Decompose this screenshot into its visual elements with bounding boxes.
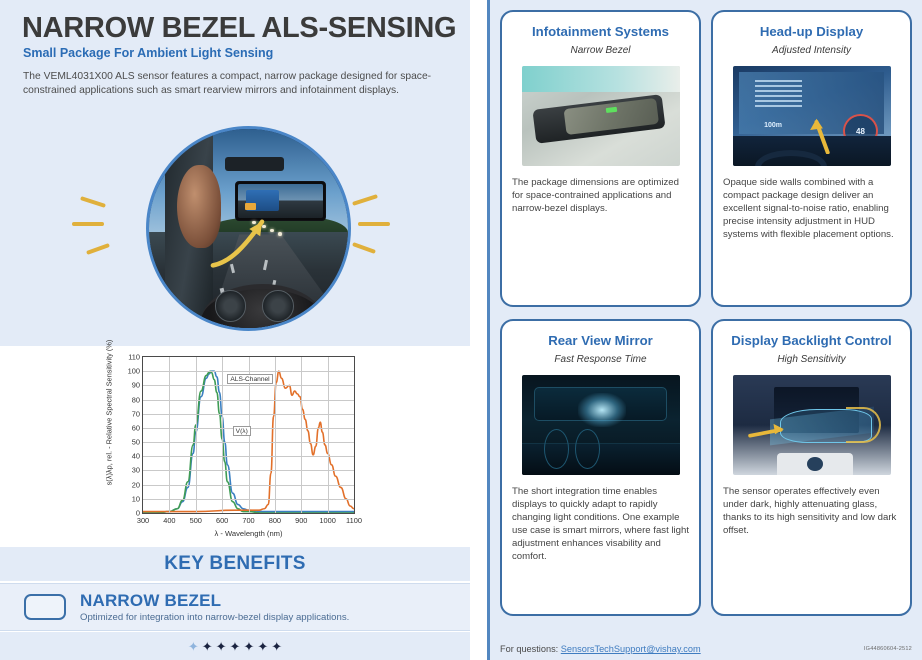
- footer-questions-label: For questions:: [500, 644, 558, 654]
- left-panel: NARROW BEZEL ALS-SENSING Small Package F…: [0, 0, 480, 660]
- chart-y-tick: 80: [132, 395, 140, 404]
- chart-gridline: [143, 456, 354, 457]
- card-title: Display Backlight Control: [723, 333, 900, 349]
- page-title: NARROW BEZEL ALS-SENSING: [22, 12, 456, 45]
- star-icon: ✦: [216, 640, 227, 653]
- chart-gridline: [143, 470, 354, 471]
- card-subtitle: Narrow Bezel: [512, 45, 689, 56]
- card-body-text: The sensor operates effectively even und…: [723, 485, 900, 537]
- star-icon: ✦: [271, 640, 282, 653]
- application-cards-grid: Infotainment Systems Narrow Bezel The pa…: [500, 10, 912, 616]
- hero-image: [146, 126, 351, 331]
- chart-y-tick: 70: [132, 409, 140, 418]
- key-benefit-description: Optimized for integration into narrow-be…: [80, 612, 349, 623]
- footer-questions: For questions: SensorsTechSupport@vishay…: [500, 644, 701, 654]
- yellow-arrow-icon: [209, 209, 301, 273]
- chart-gridline: [143, 485, 354, 486]
- center-console-display-photo: [733, 375, 891, 475]
- footer: For questions: SensorsTechSupport@vishay…: [500, 644, 912, 654]
- card-display-backlight-control[interactable]: Display Backlight Control High Sensitivi…: [711, 319, 912, 616]
- right-panel: Infotainment Systems Narrow Bezel The pa…: [490, 0, 922, 660]
- key-benefit-title: NARROW BEZEL: [80, 592, 349, 610]
- chart-x-axis-label: λ - Wavelength (nm): [142, 529, 355, 538]
- chart-x-tick: 700: [242, 516, 254, 525]
- card-subtitle: Fast Response Time: [512, 354, 689, 365]
- chart-gridline: [328, 357, 329, 513]
- chart-gridline: [222, 357, 223, 513]
- chart-plot-area: 3004005006007008009001000110001020304050…: [142, 356, 355, 514]
- star-icon: ✦: [188, 640, 199, 653]
- card-subtitle: High Sensitivity: [723, 354, 900, 365]
- star-icon: ✦: [257, 640, 268, 653]
- package-outline-icon: [24, 594, 66, 620]
- hero-description: The VEML4031X00 ALS sensor features a co…: [23, 70, 438, 98]
- dark-cabin-mirror-photo: [522, 375, 680, 475]
- card-body-text: The package dimensions are optimized for…: [512, 176, 689, 215]
- chart-x-tick: 900: [295, 516, 307, 525]
- chart-x-tick: 800: [269, 516, 281, 525]
- chart-y-tick: 0: [136, 509, 140, 518]
- star-icon: ✦: [230, 640, 241, 653]
- card-title: Infotainment Systems: [512, 24, 689, 40]
- chart-y-tick: 90: [132, 381, 140, 390]
- chart-gridline: [143, 442, 354, 443]
- rearview-mirror-photo: [522, 66, 680, 166]
- hud-distance-label: 100m: [764, 122, 782, 129]
- chart-x-tick: 600: [216, 516, 228, 525]
- chart-gridline: [143, 371, 354, 372]
- card-body-text: The short integration time enables displ…: [512, 485, 689, 563]
- hero-section: NARROW BEZEL ALS-SENSING Small Package F…: [0, 0, 470, 346]
- chart-annotation: V(λ): [233, 426, 251, 436]
- chart-x-tick: 500: [190, 516, 202, 525]
- chart-y-tick: 30: [132, 466, 140, 475]
- star-icon: ✦: [202, 640, 213, 653]
- card-body-text: Opaque side walls combined with a compac…: [723, 176, 900, 241]
- key-benefits-title: KEY BENEFITS: [164, 553, 306, 575]
- key-benefit-row: NARROW BEZEL Optimized for integration i…: [0, 583, 470, 631]
- yellow-arrow-icon: [796, 106, 843, 154]
- chart-y-tick: 110: [128, 353, 140, 362]
- chart-x-tick: 1100: [346, 516, 362, 525]
- page-subtitle: Small Package For Ambient Light Sensing: [23, 46, 273, 60]
- chart-y-tick: 40: [132, 452, 140, 461]
- chart-gridline: [169, 357, 170, 513]
- card-head-up-display[interactable]: Head-up Display Adjusted Intensity 100m …: [711, 10, 912, 307]
- key-benefits-header: KEY BENEFITS: [0, 547, 470, 582]
- chart-annotation: ALS-Channel: [227, 374, 272, 384]
- yellow-arrow-icon: [739, 421, 802, 443]
- support-email-link[interactable]: SensorsTechSupport@vishay.com: [561, 644, 701, 654]
- chart-gridline: [301, 357, 302, 513]
- chart-y-tick: 50: [132, 438, 140, 447]
- document-code: IG44860604-2512: [864, 646, 912, 652]
- card-infotainment-systems[interactable]: Infotainment Systems Narrow Bezel The pa…: [500, 10, 701, 307]
- star-decoration-row: ✦✦✦✦✦✦✦: [0, 632, 470, 660]
- chart-x-tick: 1000: [319, 516, 335, 525]
- hud-windshield-photo: 100m 48: [733, 66, 891, 166]
- poster-page: NARROW BEZEL ALS-SENSING Small Package F…: [0, 0, 922, 660]
- chart-y-tick: 100: [128, 367, 140, 376]
- card-title: Head-up Display: [723, 24, 900, 40]
- chart-gridline: [196, 357, 197, 513]
- chart-y-tick: 20: [132, 480, 140, 489]
- chart-gridline: [143, 414, 354, 415]
- chart-gridline: [143, 385, 354, 386]
- chart-gridline: [143, 499, 354, 500]
- chart-y-tick: 10: [132, 494, 140, 503]
- chart-y-tick: 60: [132, 423, 140, 432]
- chart-gridline: [275, 357, 276, 513]
- chart-gridline: [143, 400, 354, 401]
- card-subtitle: Adjusted Intensity: [723, 45, 900, 56]
- spectral-sensitivity-chart: s(λ)λp, rel. - Relative Spectral Sensiti…: [0, 346, 470, 544]
- star-icon: ✦: [243, 640, 254, 653]
- card-title: Rear View Mirror: [512, 333, 689, 349]
- chart-x-tick: 400: [163, 516, 175, 525]
- card-rear-view-mirror[interactable]: Rear View Mirror Fast Response Time The …: [500, 319, 701, 616]
- chart-y-axis-label: s(λ)λp, rel. - Relative Spectral Sensiti…: [105, 320, 114, 506]
